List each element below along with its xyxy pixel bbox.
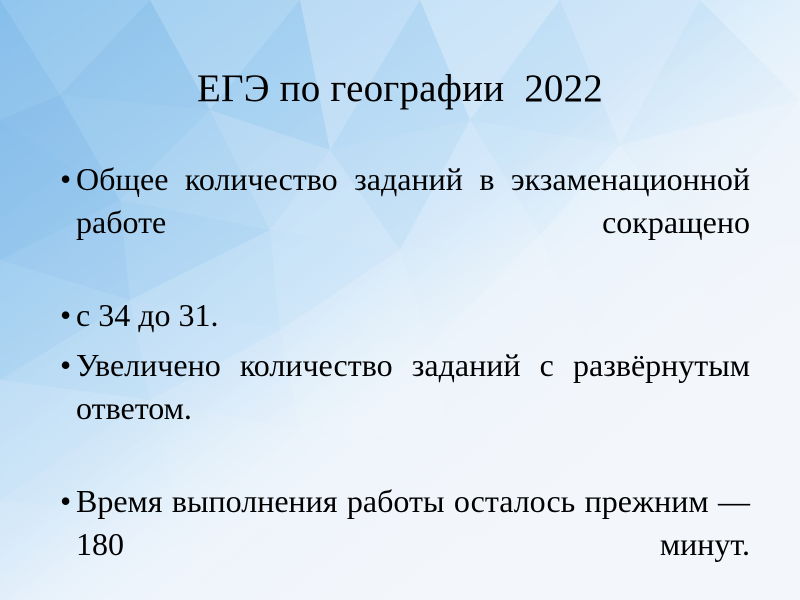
bullet-text: Увеличено количество заданий с развёрнут… (76, 344, 750, 473)
bullet-item: • Время выполнения работы осталось прежн… (58, 480, 750, 600)
bullet-list: • Общее количество заданий в экзаменацио… (58, 158, 750, 600)
bullet-text: Время выполнения работы осталось прежним… (76, 480, 750, 600)
bullet-item: • с 34 до 31. (58, 294, 750, 337)
slide-content: ЕГЭ по географии 2022 • Общее количество… (0, 0, 800, 600)
bullet-marker: • (60, 158, 74, 201)
bullet-marker: • (60, 344, 74, 387)
bullet-item: • Общее количество заданий в экзаменацио… (58, 158, 750, 287)
presentation-slide: ЕГЭ по географии 2022 • Общее количество… (0, 0, 800, 600)
bullet-marker: • (60, 480, 74, 523)
bullet-text: с 34 до 31. (76, 294, 750, 337)
bullet-text: Общее количество заданий в экзаменационн… (76, 158, 750, 287)
bullet-marker: • (60, 294, 74, 337)
bullet-item: • Увеличено количество заданий с развёрн… (58, 344, 750, 473)
slide-title: ЕГЭ по географии 2022 (0, 66, 800, 112)
